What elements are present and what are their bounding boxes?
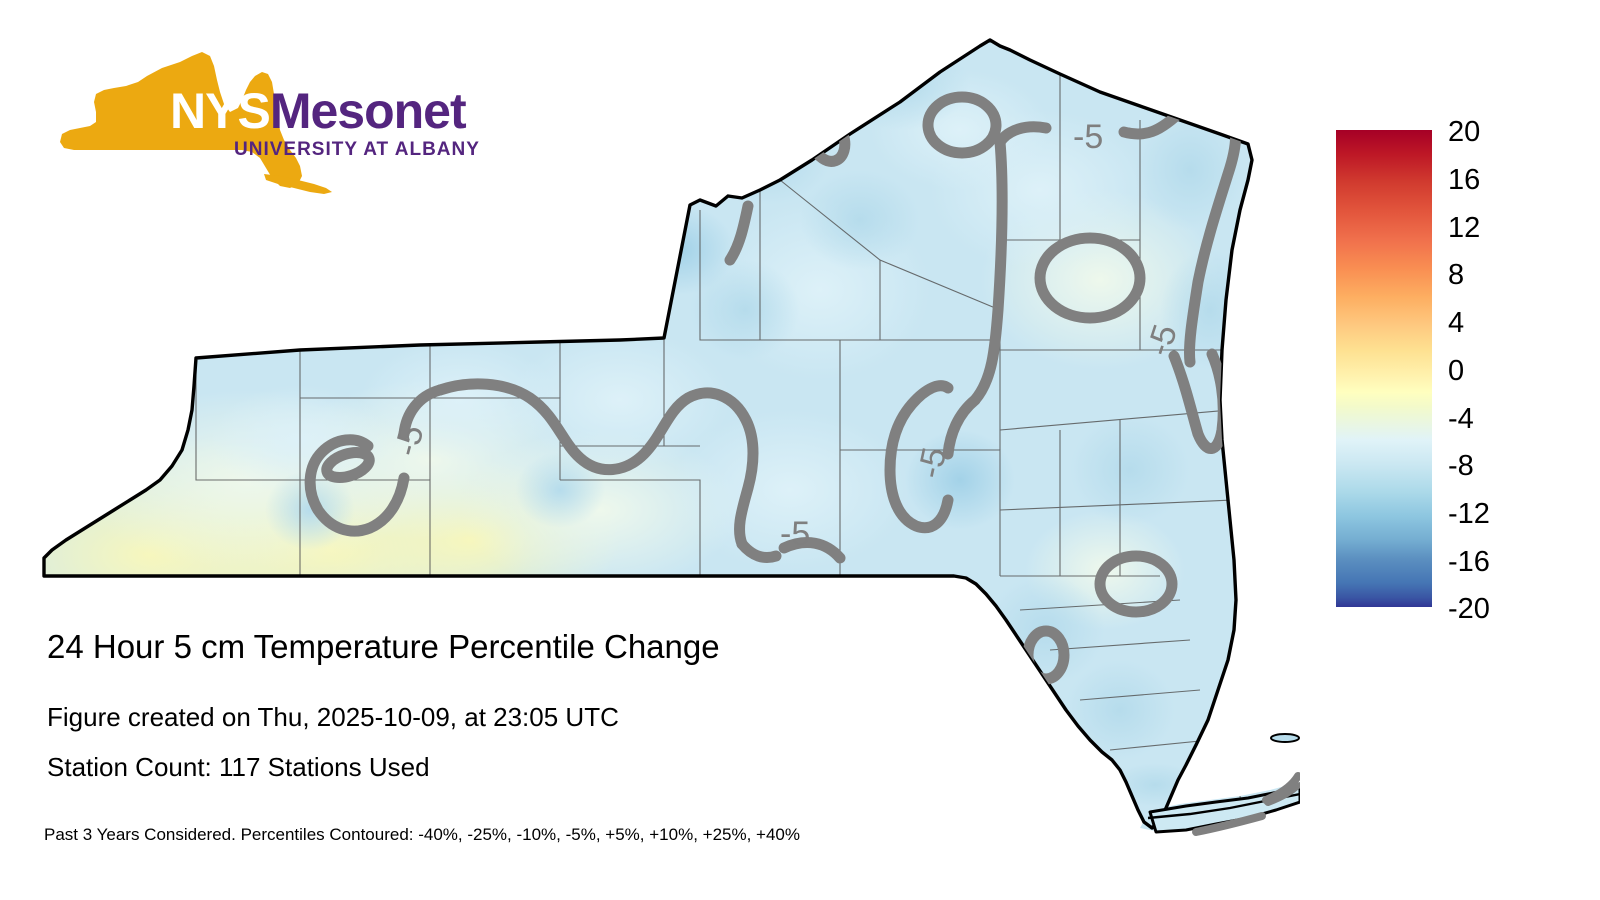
- colorbar-tick: 4: [1448, 309, 1464, 338]
- creation-timestamp: Figure created on Thu, 2025-10-09, at 23…: [47, 702, 619, 733]
- colorbar-tick-labels: 20 16 12 8 4 0 -4 -8 -12 -16 -20: [1448, 118, 1588, 618]
- colorbar-gradient: [1336, 130, 1432, 607]
- colorbar-tick: 8: [1448, 261, 1464, 290]
- methodology-footnote: Past 3 Years Considered. Percentiles Con…: [44, 825, 800, 845]
- station-count: Station Count: 117 Stations Used: [47, 752, 430, 783]
- colorbar-tick: -4: [1448, 405, 1474, 434]
- map-svg: -5 -5 -5 -5 -5: [0, 10, 1300, 870]
- colorbar-tick: 0: [1448, 357, 1464, 386]
- colorbar: [1336, 130, 1432, 607]
- figure-title: 24 Hour 5 cm Temperature Percentile Chan…: [47, 628, 720, 666]
- contour-label: -5: [1073, 118, 1103, 156]
- colorbar-tick: -12: [1448, 500, 1490, 529]
- colorbar-tick: 20: [1448, 118, 1480, 147]
- figure-canvas: NYSMesonet UNIVERSITY AT ALBANY: [0, 0, 1600, 900]
- colorbar-tick: 16: [1448, 166, 1480, 195]
- colorbar-tick: -20: [1448, 595, 1490, 624]
- colorbar-tick: -8: [1448, 452, 1474, 481]
- contour-label: -5: [780, 515, 810, 553]
- new-york-state-map: -5 -5 -5 -5 -5: [0, 10, 1300, 870]
- colorbar-tick: -16: [1448, 548, 1490, 577]
- colorbar-tick: 12: [1448, 214, 1480, 243]
